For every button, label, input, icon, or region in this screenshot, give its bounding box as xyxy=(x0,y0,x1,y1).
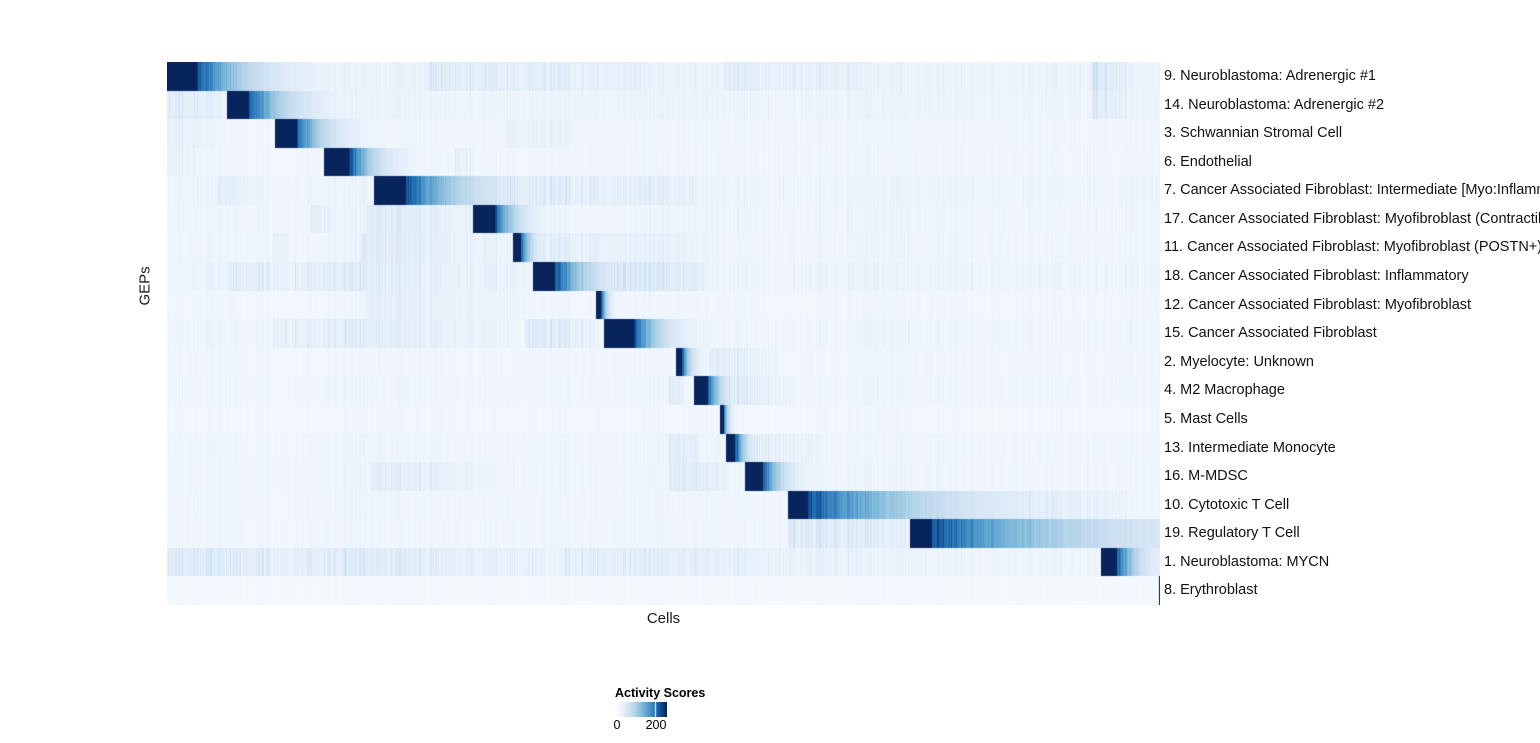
gep-row-label: 10. Cytotoxic T Cell xyxy=(1164,491,1289,520)
gep-row-label: 2. Myelocyte: Unknown xyxy=(1164,348,1314,377)
gep-row-label: 13. Intermediate Monocyte xyxy=(1164,434,1336,463)
colorbar-title: Activity Scores xyxy=(615,686,705,700)
gep-row-label: 7. Cancer Associated Fibroblast: Interme… xyxy=(1164,176,1540,205)
gep-row-label-list: 9. Neuroblastoma: Adrenergic #114. Neuro… xyxy=(1164,62,1540,605)
colorbar-legend: Activity Scores 0200 xyxy=(615,686,875,742)
gep-row-label: 9. Neuroblastoma: Adrenergic #1 xyxy=(1164,62,1376,91)
x-axis-title: Cells xyxy=(167,610,1160,627)
gep-row-label: 8. Erythroblast xyxy=(1164,576,1258,605)
gep-row-label: 15. Cancer Associated Fibroblast xyxy=(1164,319,1377,348)
gep-row-label: 3. Schwannian Stromal Cell xyxy=(1164,119,1342,148)
colorbar-tick-labels: 0200 xyxy=(615,718,815,734)
heatmap-plot xyxy=(167,62,1160,605)
gep-row-label: 1. Neuroblastoma: MYCN xyxy=(1164,548,1329,577)
gep-row-label: 14. Neuroblastoma: Adrenergic #2 xyxy=(1164,91,1384,120)
gep-row-label: 12. Cancer Associated Fibroblast: Myofib… xyxy=(1164,291,1471,320)
colorbar-gradient xyxy=(617,702,667,717)
gep-row-label: 18. Cancer Associated Fibroblast: Inflam… xyxy=(1164,262,1469,291)
gep-row-label: 11. Cancer Associated Fibroblast: Myofib… xyxy=(1164,233,1540,262)
colorbar-tick-label: 0 xyxy=(614,718,621,732)
gep-row-label: 16. M-MDSC xyxy=(1164,462,1248,491)
gep-row-label: 19. Regulatory T Cell xyxy=(1164,519,1300,548)
gep-row-label: 6. Endothelial xyxy=(1164,148,1252,177)
gep-row-label: 17. Cancer Associated Fibroblast: Myofib… xyxy=(1164,205,1540,234)
gep-row-label: 5. Mast Cells xyxy=(1164,405,1248,434)
colorbar-tick-label: 200 xyxy=(646,718,667,732)
heatmap-figure: GEPs Cells 9. Neuroblastoma: Adrenergic … xyxy=(0,0,1540,743)
y-axis-title: GEPs xyxy=(137,282,154,306)
gep-row-label: 4. M2 Macrophage xyxy=(1164,376,1285,405)
